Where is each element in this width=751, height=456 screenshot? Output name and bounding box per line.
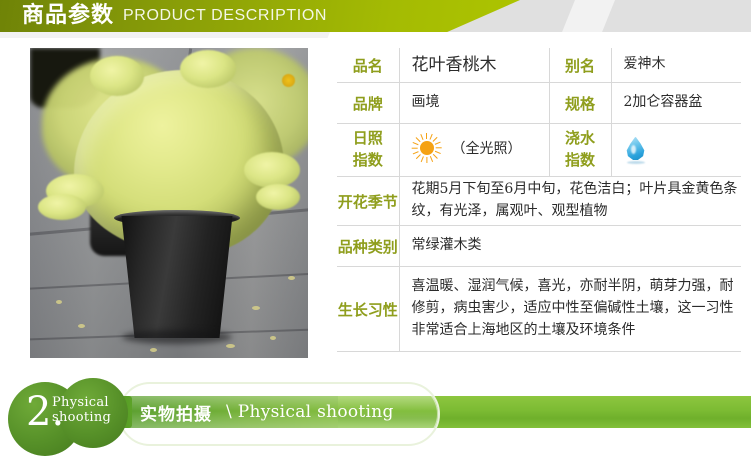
spec-label-variety-type: 品种类别	[337, 226, 399, 267]
page-title-cn: 商品参数	[22, 5, 114, 27]
sun-icon	[412, 133, 442, 163]
banner-title-en: \ Physical shooting	[226, 402, 394, 422]
photo-pot-shadow	[122, 330, 232, 344]
photo-debris	[270, 336, 276, 340]
photo-debris	[288, 276, 295, 280]
spec-value-growth-habit: 喜温暖、湿润气候，喜光，亦耐半阴，萌芽力强，耐修剪，病虫害少，适应中性至偏碱性土…	[399, 267, 741, 352]
photo-debris	[150, 348, 157, 352]
photo-sprig	[244, 152, 300, 188]
spec-value-sunlight-label: （全光照）	[452, 138, 522, 158]
table-row: 日照 指数	[337, 124, 741, 177]
spec-label-bloom-season: 开花季节	[337, 177, 399, 226]
photo-sprig	[90, 56, 144, 96]
header-underline-slash	[328, 32, 751, 38]
banner-title-cn: 实物拍摄	[140, 400, 212, 425]
photo-debris	[56, 300, 62, 304]
badge-english-label: Physical shooting	[52, 395, 111, 426]
spec-value-brand: 画境	[399, 83, 549, 124]
table-row: 品种类别 常绿灌木类	[337, 226, 741, 267]
badge-english-line1: Physical	[52, 395, 111, 410]
spec-label-watering-line1: 浇水	[550, 128, 611, 150]
spec-value-alias: 爱神木	[611, 48, 741, 83]
spec-label-brand: 品牌	[337, 83, 399, 124]
product-spec-table: 品名 花叶香桃木 别名 爱神木 品牌 画境 规格 2加仑容器盆 日照 指数	[337, 48, 741, 352]
table-row: 生长习性 喜温暖、湿润气候，喜光，亦耐半阴，萌芽力强，耐修剪，病虫害少，适应中性…	[337, 267, 741, 352]
photo-debris	[78, 324, 85, 328]
spec-value-name: 花叶香桃木	[399, 48, 549, 83]
bottom-banner: 实物拍摄 \ Physical shooting 2. Physical sho…	[0, 374, 751, 456]
page-title-en: PRODUCT DESCRIPTION	[123, 8, 327, 25]
spec-label-spec: 规格	[549, 83, 611, 124]
photo-sprig	[180, 50, 236, 88]
spec-value-sunlight: （全光照）	[399, 124, 549, 177]
spec-label-watering: 浇水 指数	[549, 124, 611, 177]
product-photo	[30, 48, 308, 358]
spec-label-name: 品名	[337, 48, 399, 83]
spec-label-alias: 别名	[549, 48, 611, 83]
banner-title-group: 实物拍摄 \ Physical shooting	[140, 396, 394, 428]
photo-sprig	[38, 194, 86, 220]
spec-label-watering-line2: 指数	[550, 150, 611, 172]
spec-label-sunlight-line1: 日照	[337, 128, 399, 150]
water-drop-icon	[626, 137, 646, 164]
spec-label-sunlight-line2: 指数	[337, 150, 399, 172]
header-title-group: 商品参数 PRODUCT DESCRIPTION	[22, 0, 327, 32]
photo-nursery-pot	[118, 216, 236, 338]
photo-debris	[226, 344, 235, 348]
photo-yellow-flower	[282, 74, 295, 87]
photo-debris	[252, 306, 260, 310]
spec-value-variety-type: 常绿灌木类	[399, 226, 741, 267]
badge-english-line2: shooting	[52, 410, 111, 425]
table-row: 品牌 画境 规格 2加仑容器盆	[337, 83, 741, 124]
spec-label-growth-habit: 生长习性	[337, 267, 399, 352]
spec-label-sunlight: 日照 指数	[337, 124, 399, 177]
section-number-badge: 2. Physical shooting	[8, 374, 138, 456]
table-row: 品名 花叶香桃木 别名 爱神木	[337, 48, 741, 83]
spec-value-watering	[611, 124, 741, 177]
spec-value-bloom-season: 花期5月下旬至6月中旬，花色洁白；叶片具金黄色条纹，有光泽，属观叶、观型植物	[399, 177, 741, 226]
spec-value-spec: 2加仑容器盆	[611, 83, 741, 124]
table-row: 开花季节 花期5月下旬至6月中旬，花色洁白；叶片具金黄色条纹，有光泽，属观叶、观…	[337, 177, 741, 226]
photo-sprig	[256, 184, 300, 210]
